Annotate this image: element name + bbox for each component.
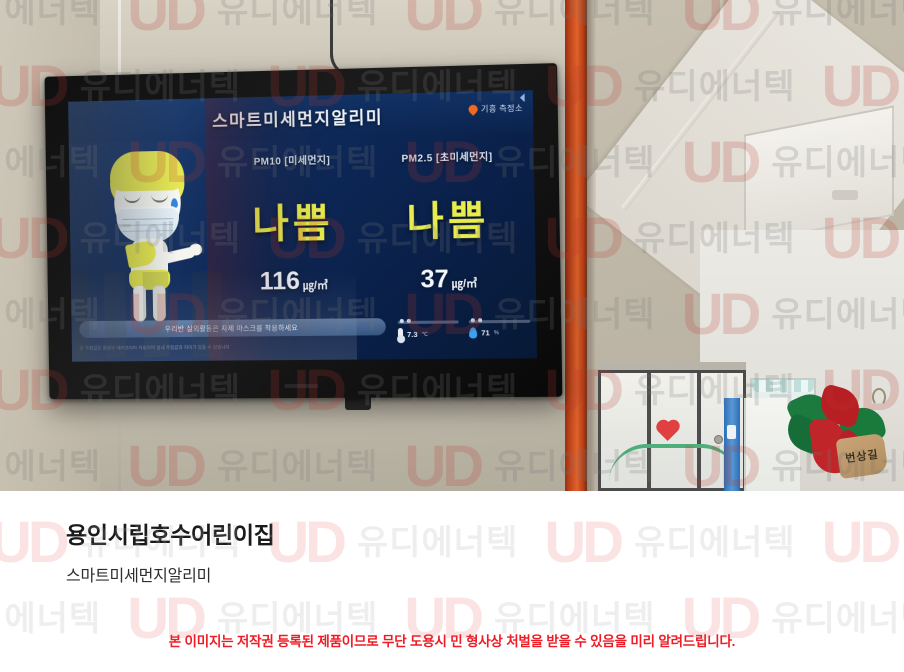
station-label: 기흥 측정소 [481, 103, 523, 115]
mascot-hand [189, 243, 202, 255]
scale-dot [471, 318, 475, 322]
wall-mounted-display: 스마트미세먼지알리미 기흥 측정소 [45, 63, 563, 399]
dust-mascot-sad-mask-icon [102, 150, 199, 330]
humidity-value: 71 [481, 328, 490, 337]
location-pin-icon [467, 103, 480, 116]
tv-screen: 스마트미세먼지알리미 기흥 측정소 [68, 90, 537, 362]
water-drop-icon [469, 327, 477, 338]
advisory-message-text: 우리반 실외활동은 자제 마스크를 착용하세요 [165, 323, 298, 334]
red-pillar [565, 0, 587, 491]
ribbon-wreath-decoration-icon: 번상길 [786, 388, 882, 488]
reading-grade: 나쁨 [371, 187, 524, 248]
humidity-unit: % [494, 330, 499, 336]
environment-indicators: 7.3 ℃ 71 % [398, 320, 531, 341]
display-footer: 우리반 실외활동은 자제 마스크를 착용하세요 본 측정값은 환경부 에어코리아… [71, 310, 537, 356]
reading-label: PM10 [미세먼지] [217, 151, 367, 169]
mascot-hair-top [110, 150, 185, 191]
advisory-message-pill: 우리반 실외활동은 자제 마스크를 착용하세요 [79, 318, 386, 338]
humidity-scale-bar [469, 320, 530, 324]
reading-value-group: 116㎍/㎥ [219, 266, 369, 297]
reading-grade: 나쁨 [218, 190, 368, 250]
reading-pm10: PM10 [미세먼지] 나쁨 116㎍/㎥ [217, 151, 369, 297]
scale-dot [400, 319, 404, 323]
tv-cable [330, 0, 370, 78]
product-photo-page: 번상길 스마트미세먼지알리미 기흥 측정소 [0, 0, 904, 672]
scale-dot [478, 318, 482, 322]
reading-value-group: 37㎍/㎥ [373, 264, 526, 295]
page-subtitle: 스마트미세먼지알리미 [66, 562, 211, 586]
humidity-indicator: 71 % [469, 320, 531, 341]
scale-dot [407, 319, 411, 323]
reading-label: PM2.5 [초미세먼지] [371, 147, 524, 165]
temperature-unit: ℃ [422, 331, 428, 337]
temperature-scale-bar [398, 320, 459, 324]
reading-value: 116 [260, 267, 301, 295]
tv-brand-mark [284, 384, 318, 388]
temperature-indicator: 7.3 ℃ [398, 320, 459, 341]
temperature-value: 7.3 [407, 330, 418, 339]
reading-pm25: PM2.5 [초미세먼지] 나쁨 37㎍/㎥ [371, 147, 526, 295]
reading-unit: ㎍/㎥ [452, 278, 478, 290]
mascot-face-mask-icon [116, 206, 179, 243]
display-title: 스마트미세먼지알리미 [212, 102, 383, 131]
ceiling-fixture [832, 190, 858, 200]
pillar-edge-shadow [586, 0, 596, 491]
copyright-warning: 본 이미지는 저작권 등록된 제품이므로 무단 도용시 민 형사상 처벌을 받을… [0, 630, 904, 650]
caption-block: 용인시립호수어린이집 스마트미세먼지알리미 본 이미지는 저작권 등록된 제품이… [0, 491, 904, 672]
wall-switch[interactable] [727, 425, 736, 439]
door-handle[interactable] [714, 435, 723, 444]
deco-tag-label: 번상길 [835, 433, 888, 479]
air-quality-readings: PM10 [미세먼지] 나쁨 116㎍/㎥ PM2.5 [초미세먼지] 나쁨 3… [215, 147, 527, 297]
thermometer-icon [398, 328, 403, 341]
installation-photo: 번상길 스마트미세먼지알리미 기흥 측정소 [0, 0, 904, 491]
deco-hook-icon [872, 388, 886, 406]
reading-value: 37 [420, 265, 449, 294]
display-fine-print: 본 측정값은 환경부 에어코리아 자료이며 실내 측정값과 차이가 있을 수 있… [80, 345, 230, 352]
blue-door-post [724, 398, 740, 491]
page-title: 용인시립호수어린이집 [66, 516, 275, 550]
measuring-station: 기흥 측정소 [469, 103, 523, 115]
door-decal-arc [609, 444, 739, 482]
reading-unit: ㎍/㎥ [303, 280, 328, 292]
